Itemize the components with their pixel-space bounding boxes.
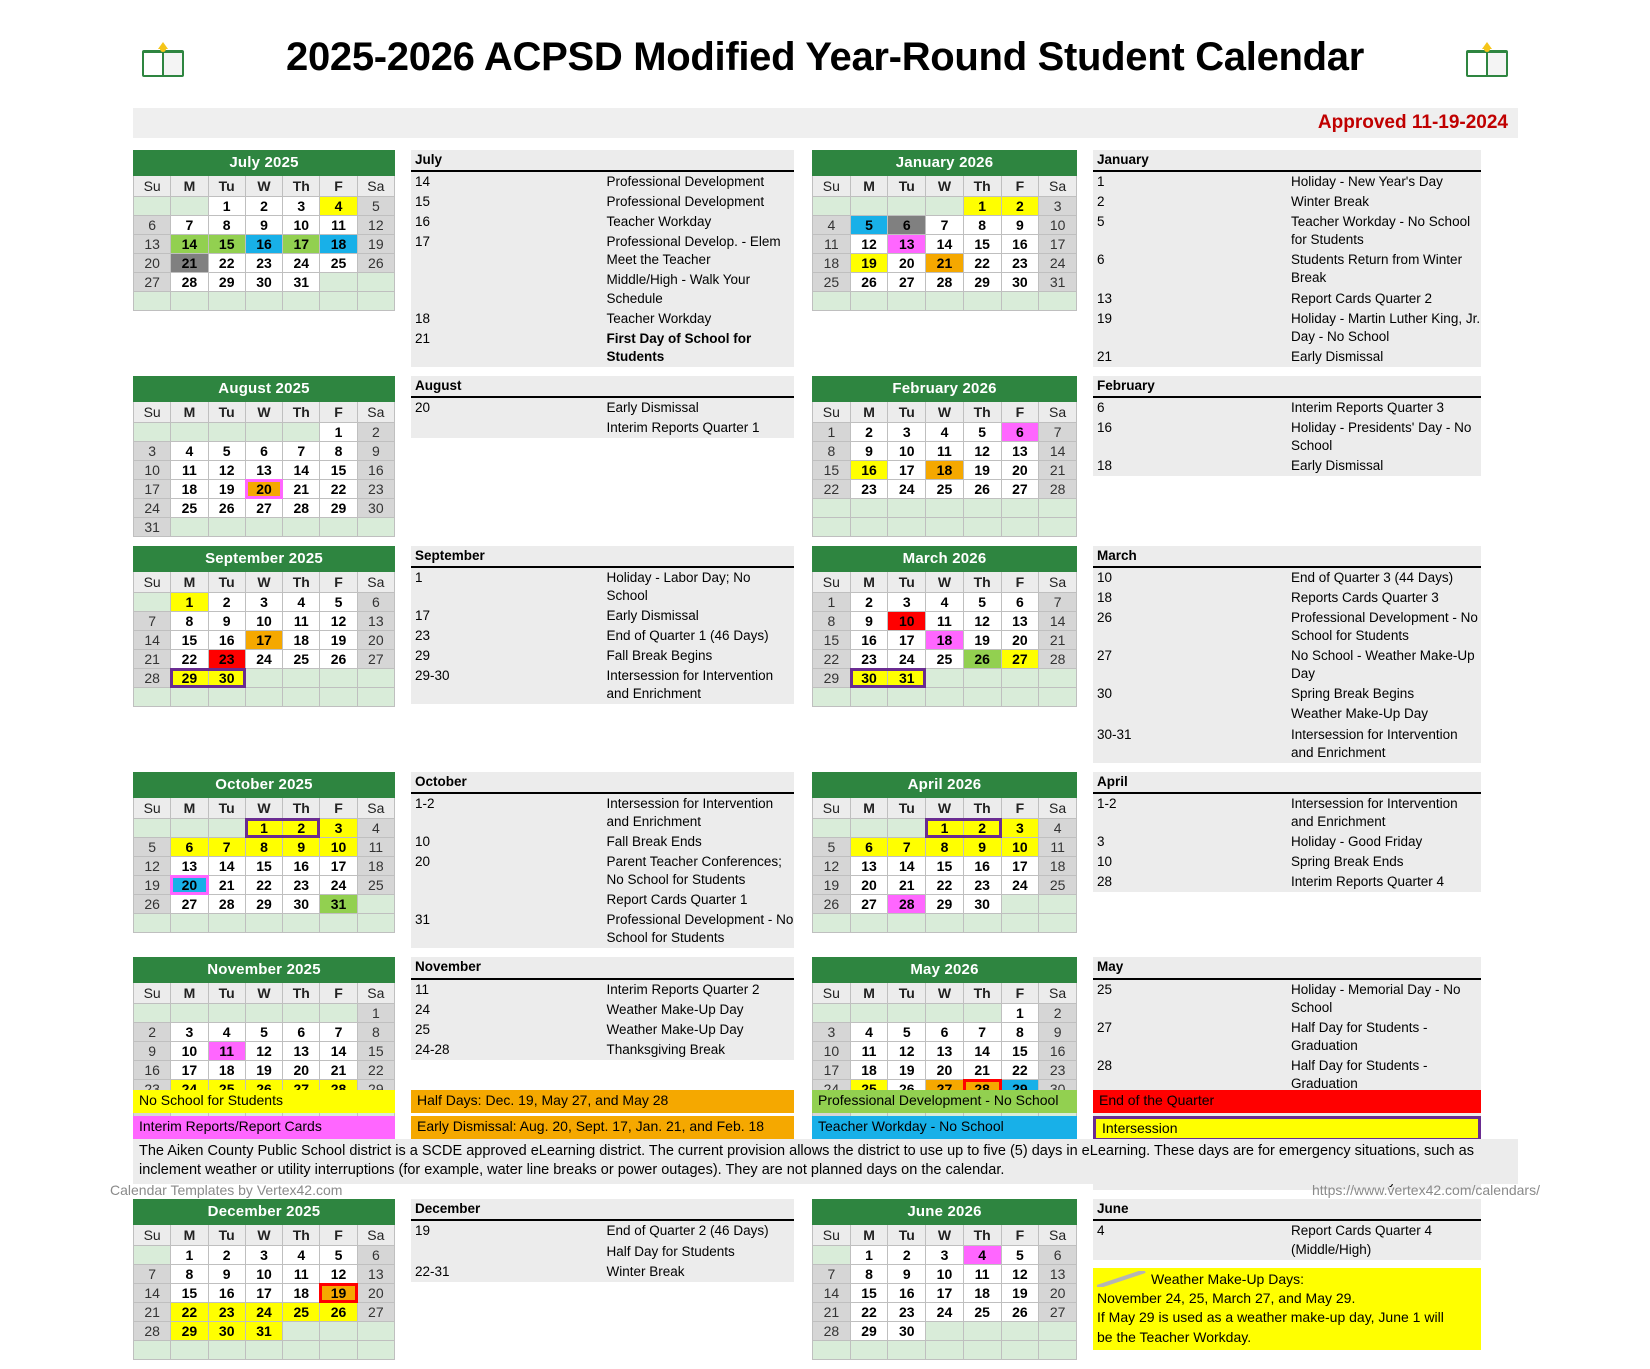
note-day: 5 (1093, 212, 1287, 250)
day-cell (888, 913, 926, 932)
week-row (813, 1341, 1077, 1360)
day-cell: 18 (283, 630, 320, 649)
day-cell: 13 (134, 235, 171, 254)
dow-header: F (320, 797, 357, 818)
day-cell (283, 422, 320, 441)
note-row: 1-2Intersession for Intervention and Enr… (411, 793, 794, 832)
note-text: Holiday - Presidents' Day - No School (1287, 418, 1481, 456)
week-row: 15161718192021 (813, 460, 1077, 479)
day-cell: 1 (926, 818, 964, 837)
note-day: 17 (411, 606, 603, 626)
note-text: Weather Make-Up Day (603, 1000, 795, 1020)
day-cell: 3 (134, 441, 171, 460)
dow-header: Sa (1039, 983, 1077, 1004)
day-cell: 12 (888, 1042, 926, 1061)
day-cell: 24 (245, 1303, 282, 1322)
day-cell (850, 498, 888, 517)
note-day: 10 (1093, 852, 1287, 872)
callout-line-1: Weather Make-Up Days: (1097, 1270, 1477, 1289)
day-cell: 18 (1039, 856, 1077, 875)
day-cell: 12 (357, 216, 394, 235)
day-cell: 14 (888, 856, 926, 875)
day-cell: 15 (171, 1284, 208, 1303)
day-cell: 14 (1039, 441, 1077, 460)
day-cell: 11 (1039, 837, 1077, 856)
month-title: May 2026 (813, 958, 1077, 983)
month-calendar-january2026: January 2026SuMTuWThFSa12345678910111213… (812, 150, 1077, 311)
day-cell: 19 (888, 1061, 926, 1080)
day-cell: 24 (134, 498, 171, 517)
day-cell: 19 (963, 630, 1001, 649)
week-row: 1234567 (813, 592, 1077, 611)
day-cell: 2 (1001, 197, 1039, 216)
day-cell: 1 (357, 1004, 394, 1023)
day-cell (926, 687, 964, 706)
day-cell: 8 (208, 216, 245, 235)
note-row: 18Reports Cards Quarter 3 (1093, 588, 1481, 608)
week-row: 891011121314 (813, 441, 1077, 460)
month-title: December 2025 (134, 1200, 395, 1225)
month-col-left: September 2025SuMTuWThFSa123456789101112… (133, 546, 395, 763)
day-cell: 18 (926, 460, 964, 479)
dow-header: F (1001, 571, 1039, 592)
dow-header: Su (813, 176, 851, 197)
notes-title: November (411, 957, 794, 978)
day-cell: 2 (357, 422, 394, 441)
note-row: 24-28Thanksgiving Break (411, 1040, 794, 1060)
notes-july: July14Professional Development15Professi… (411, 150, 794, 367)
day-cell: 8 (357, 1023, 394, 1042)
dow-header: W (245, 983, 282, 1004)
day-cell: 17 (888, 460, 926, 479)
day-cell: 16 (1001, 235, 1039, 254)
day-cell: 15 (963, 235, 1001, 254)
day-cell (245, 517, 282, 536)
note-day: 2 (1093, 192, 1287, 212)
day-cell: 30 (1001, 273, 1039, 292)
day-cell: 24 (888, 649, 926, 668)
note-row: Half Day for Students (411, 1242, 794, 1262)
day-cell: 26 (963, 649, 1001, 668)
note-day: 6 (1093, 250, 1287, 288)
day-cell: 30 (888, 1322, 926, 1341)
month-title: February 2026 (813, 376, 1077, 401)
day-cell: 3 (283, 197, 320, 216)
dow-header: Tu (888, 401, 926, 422)
notes-col-right: March10End of Quarter 3 (44 Days)18Repor… (1093, 546, 1481, 763)
day-cell: 19 (208, 479, 245, 498)
week-row: 24252627282930 (134, 498, 395, 517)
day-cell: 9 (850, 611, 888, 630)
day-cell: 31 (1039, 273, 1077, 292)
day-cell: 25 (357, 875, 394, 894)
footer-credit: Calendar Templates by Vertex42.com (110, 1182, 342, 1198)
week-row: 12345 (134, 197, 395, 216)
day-cell: 12 (320, 1265, 357, 1284)
week-row: 10111213141516 (134, 460, 395, 479)
note-day: 25 (1093, 979, 1287, 1018)
note-day: 10 (411, 832, 603, 852)
notes-title: October (411, 772, 794, 793)
day-cell (926, 913, 964, 932)
day-cell: 20 (850, 875, 888, 894)
note-day (1093, 704, 1287, 724)
note-day: 22-31 (411, 1262, 603, 1282)
note-day: 28 (1093, 872, 1287, 892)
note-text: First Day of School for Students (603, 329, 795, 367)
note-day: 16 (1093, 418, 1287, 456)
note-day: 26 (1093, 608, 1287, 646)
month-calendar-august2025: August 2025SuMTuWThFSa123456789101112131… (133, 376, 395, 537)
day-cell: 27 (1001, 649, 1039, 668)
day-cell: 2 (963, 818, 1001, 837)
day-cell: 8 (850, 1265, 888, 1284)
legend-intersession: Intersession (1093, 1116, 1481, 1141)
dow-header: M (850, 176, 888, 197)
day-cell: 12 (245, 1042, 282, 1061)
approved-date: Approved 11-19-2024 (1318, 112, 1508, 134)
day-cell: 19 (134, 875, 171, 894)
callout-line-3: If May 29 is used as a weather make-up d… (1097, 1308, 1477, 1327)
dow-header: F (1001, 401, 1039, 422)
note-row: 18Early Dismissal (1093, 456, 1481, 476)
day-cell: 12 (850, 235, 888, 254)
day-cell: 8 (171, 611, 208, 630)
notes-title: September (411, 546, 794, 567)
note-row: 6Students Return from Winter Break (1093, 250, 1481, 288)
day-cell (813, 498, 851, 517)
day-cell (283, 517, 320, 536)
note-text: Interim Reports Quarter 3 (1287, 397, 1481, 418)
dow-header: W (926, 176, 964, 197)
day-cell: 20 (171, 875, 208, 894)
day-cell: 13 (888, 235, 926, 254)
day-cell: 9 (963, 837, 1001, 856)
day-cell: 1 (320, 422, 357, 441)
day-cell: 16 (963, 856, 1001, 875)
note-row: 22-31Winter Break (411, 1262, 794, 1282)
day-cell (1001, 894, 1039, 913)
legend-half-days: Half Days: Dec. 19, May 27, and May 28 (411, 1090, 794, 1113)
day-cell: 10 (813, 1042, 851, 1061)
note-row: 10Spring Break Ends (1093, 852, 1481, 872)
note-day: 1-2 (411, 793, 603, 832)
dow-header: F (1001, 983, 1039, 1004)
day-cell: 5 (963, 422, 1001, 441)
day-cell (888, 1004, 926, 1023)
day-cell: 29 (245, 894, 282, 913)
dow-header: M (171, 1225, 208, 1246)
dow-header: W (926, 797, 964, 818)
day-cell (134, 1004, 171, 1023)
week-row: 2345678 (134, 1023, 395, 1042)
day-cell (1001, 498, 1039, 517)
day-cell: 3 (1039, 197, 1077, 216)
day-cell: 15 (926, 856, 964, 875)
day-cell: 10 (283, 216, 320, 235)
day-cell (813, 517, 851, 536)
dow-header: Th (283, 797, 320, 818)
day-cell (926, 1004, 964, 1023)
notes-col-right: April1-2Intersession for Intervention an… (1093, 772, 1481, 949)
page-footer: Calendar Templates by Vertex42.com https… (110, 1182, 1540, 1198)
day-cell (888, 498, 926, 517)
day-cell: 20 (926, 1061, 964, 1080)
dow-header: W (245, 571, 282, 592)
notes-title: January (1093, 150, 1481, 171)
day-cell: 17 (320, 856, 357, 875)
day-cell (357, 913, 394, 932)
day-cell: 7 (134, 1265, 171, 1284)
note-row: 5Teacher Workday - No School for Student… (1093, 212, 1481, 250)
slash-icon (1097, 1271, 1147, 1287)
note-text: Holiday - Labor Day; No School (603, 567, 795, 606)
day-cell (850, 1004, 888, 1023)
day-cell: 30 (208, 1322, 245, 1341)
day-cell: 16 (357, 460, 394, 479)
note-text: Early Dismissal (603, 606, 795, 626)
note-day (411, 418, 603, 438)
day-cell (171, 517, 208, 536)
day-cell: 21 (283, 479, 320, 498)
day-cell: 27 (357, 1303, 394, 1322)
day-cell: 4 (963, 1246, 1001, 1265)
day-cell: 21 (963, 1061, 1001, 1080)
note-row: 17Early Dismissal (411, 606, 794, 626)
day-cell (1039, 292, 1077, 311)
day-cell (1039, 668, 1077, 687)
day-cell: 28 (283, 498, 320, 517)
day-cell: 14 (208, 856, 245, 875)
dow-header: M (850, 401, 888, 422)
note-day: 30-31 (1093, 725, 1287, 763)
week-row: 78910111213 (813, 1265, 1077, 1284)
day-cell: 9 (283, 837, 320, 856)
day-cell: 11 (320, 216, 357, 235)
note-day: 21 (1093, 347, 1287, 367)
week-row: 1234567 (813, 422, 1077, 441)
day-cell (208, 1004, 245, 1023)
dow-header: M (850, 571, 888, 592)
day-cell (357, 1322, 394, 1341)
month-col-right: June 2026SuMTuWThFSa12345678910111213141… (812, 1199, 1077, 1360)
week-row: 1234 (813, 818, 1077, 837)
dow-header: Su (134, 983, 171, 1004)
day-cell: 7 (283, 441, 320, 460)
week-row: 78910111213 (134, 611, 395, 630)
day-cell (850, 818, 888, 837)
day-cell: 19 (357, 235, 394, 254)
dow-header: W (245, 797, 282, 818)
day-cell: 19 (963, 460, 1001, 479)
dow-header: Su (813, 983, 851, 1004)
day-cell: 9 (208, 611, 245, 630)
day-cell: 25 (963, 1303, 1001, 1322)
month-col-right: April 2026SuMTuWThFSa1234567891011121314… (812, 772, 1077, 949)
note-day: 25 (411, 1020, 603, 1040)
day-cell: 7 (963, 1023, 1001, 1042)
day-cell: 7 (134, 611, 171, 630)
dow-header: F (320, 176, 357, 197)
day-cell: 16 (888, 1284, 926, 1303)
notes-title: May (1093, 957, 1481, 978)
day-cell: 29 (171, 668, 208, 687)
day-cell (134, 197, 171, 216)
week-row: 3456789 (134, 441, 395, 460)
day-cell: 14 (1039, 611, 1077, 630)
day-cell: 4 (357, 818, 394, 837)
day-cell (926, 292, 964, 311)
day-cell: 22 (1001, 1061, 1039, 1080)
day-cell: 28 (1039, 649, 1077, 668)
month-calendar-september2025: September 2025SuMTuWThFSa123456789101112… (133, 546, 395, 707)
notes-title: March (1093, 546, 1481, 567)
day-cell: 9 (850, 441, 888, 460)
notes-title: June (1093, 1199, 1481, 1220)
month-title: March 2026 (813, 546, 1077, 571)
week-row: 282930 (813, 1322, 1077, 1341)
dow-header: M (171, 401, 208, 422)
dow-header: M (850, 1225, 888, 1246)
day-cell: 14 (963, 1042, 1001, 1061)
day-cell: 9 (1001, 216, 1039, 235)
note-day: 23 (411, 626, 603, 646)
week-row: 12131415161718 (813, 856, 1077, 875)
day-cell (926, 498, 964, 517)
week-row: 12 (813, 1004, 1077, 1023)
day-cell: 6 (1039, 1246, 1077, 1265)
day-cell (208, 1341, 245, 1360)
note-text: Intersession for Intervention and Enrich… (1287, 725, 1481, 763)
note-text: Winter Break (603, 1262, 795, 1282)
dow-header: Tu (208, 401, 245, 422)
day-cell (320, 668, 357, 687)
day-cell (1039, 1322, 1077, 1341)
dow-header: Sa (357, 983, 394, 1004)
day-cell (813, 818, 851, 837)
day-cell: 27 (134, 273, 171, 292)
week-row: 12131415161718 (134, 856, 395, 875)
day-cell (850, 1341, 888, 1360)
day-cell: 9 (357, 441, 394, 460)
day-cell: 26 (320, 649, 357, 668)
month-title: January 2026 (813, 151, 1077, 176)
day-cell: 25 (926, 479, 964, 498)
legend-end-quarter: End of the Quarter (1093, 1090, 1481, 1113)
day-cell (963, 687, 1001, 706)
note-text: Students Return from Winter Break (1287, 250, 1481, 288)
day-cell (813, 292, 851, 311)
day-cell: 28 (1039, 479, 1077, 498)
day-cell (134, 687, 171, 706)
day-cell: 23 (357, 479, 394, 498)
day-cell: 9 (1039, 1023, 1077, 1042)
month-col-left: December 2025SuMTuWThFSa1234567891011121… (133, 1199, 395, 1360)
week-row: 262728293031 (134, 894, 395, 913)
day-cell: 23 (963, 875, 1001, 894)
day-cell (208, 913, 245, 932)
day-cell: 26 (134, 894, 171, 913)
day-cell: 16 (283, 856, 320, 875)
week-row: 21222324252627 (134, 1303, 395, 1322)
note-day (411, 270, 603, 308)
day-cell: 27 (1039, 1303, 1077, 1322)
dow-header: Tu (888, 797, 926, 818)
note-text: Report Cards Quarter 1 (603, 890, 795, 910)
day-cell (963, 292, 1001, 311)
day-cell (320, 687, 357, 706)
day-cell: 16 (208, 630, 245, 649)
day-cell: 2 (283, 818, 320, 837)
day-cell: 17 (283, 235, 320, 254)
dow-header: Su (813, 401, 851, 422)
note-text: Parent Teacher Conferences; No School fo… (603, 852, 795, 890)
notes-col-right: January1Holiday - New Year's Day2Winter … (1093, 150, 1481, 367)
day-cell: 31 (245, 1322, 282, 1341)
day-cell: 1 (813, 422, 851, 441)
note-row: 10Fall Break Ends (411, 832, 794, 852)
month-title: November 2025 (134, 958, 395, 983)
day-cell: 20 (1001, 630, 1039, 649)
note-row: 27No School - Weather Make-Up Day (1093, 646, 1481, 684)
day-cell: 5 (357, 197, 394, 216)
week-row: 2728293031 (134, 273, 395, 292)
footer-url[interactable]: https://www.vertex42.com/calendars/ (1312, 1182, 1540, 1198)
day-cell: 14 (134, 1284, 171, 1303)
day-cell (963, 913, 1001, 932)
day-cell: 7 (208, 837, 245, 856)
day-cell: 28 (134, 1322, 171, 1341)
day-cell: 5 (134, 837, 171, 856)
week-row: 17181920212223 (134, 479, 395, 498)
day-cell (357, 668, 394, 687)
day-cell: 31 (320, 894, 357, 913)
day-cell: 22 (926, 875, 964, 894)
dow-header: M (171, 797, 208, 818)
dow-header: Tu (208, 571, 245, 592)
week-row: 1234 (134, 818, 395, 837)
day-cell: 26 (357, 254, 394, 273)
note-row: 21Early Dismissal (1093, 347, 1481, 367)
dow-header: F (1001, 797, 1039, 818)
note-row: 3Holiday - Good Friday (1093, 832, 1481, 852)
notes-col-left: September1Holiday - Labor Day; No School… (411, 546, 794, 763)
dow-header: M (850, 797, 888, 818)
day-cell: 18 (963, 1284, 1001, 1303)
day-cell (320, 913, 357, 932)
note-day: 19 (1093, 309, 1287, 347)
day-cell (208, 422, 245, 441)
note-row: 4Report Cards Quarter 4 (Middle/High) (1093, 1220, 1481, 1259)
legend-early-dismissal: Early Dismissal: Aug. 20, Sept. 17, Jan.… (411, 1116, 794, 1139)
week-row: 22232425262728 (813, 649, 1077, 668)
dow-header: W (245, 176, 282, 197)
day-cell (283, 1341, 320, 1360)
month-calendar-june2026: June 2026SuMTuWThFSa12345678910111213141… (812, 1199, 1077, 1360)
note-day: 29 (411, 646, 603, 666)
week-row: 28293031 (134, 1322, 395, 1341)
day-cell: 30 (245, 273, 282, 292)
note-day (411, 1242, 603, 1262)
week-row (813, 687, 1077, 706)
note-row: 15Professional Development (411, 192, 794, 212)
day-cell: 23 (888, 1303, 926, 1322)
notes-col-right: February6Interim Reports Quarter 316Holi… (1093, 376, 1481, 537)
day-cell: 2 (208, 592, 245, 611)
dow-header: F (320, 983, 357, 1004)
day-cell: 29 (171, 1322, 208, 1341)
day-cell: 14 (283, 460, 320, 479)
